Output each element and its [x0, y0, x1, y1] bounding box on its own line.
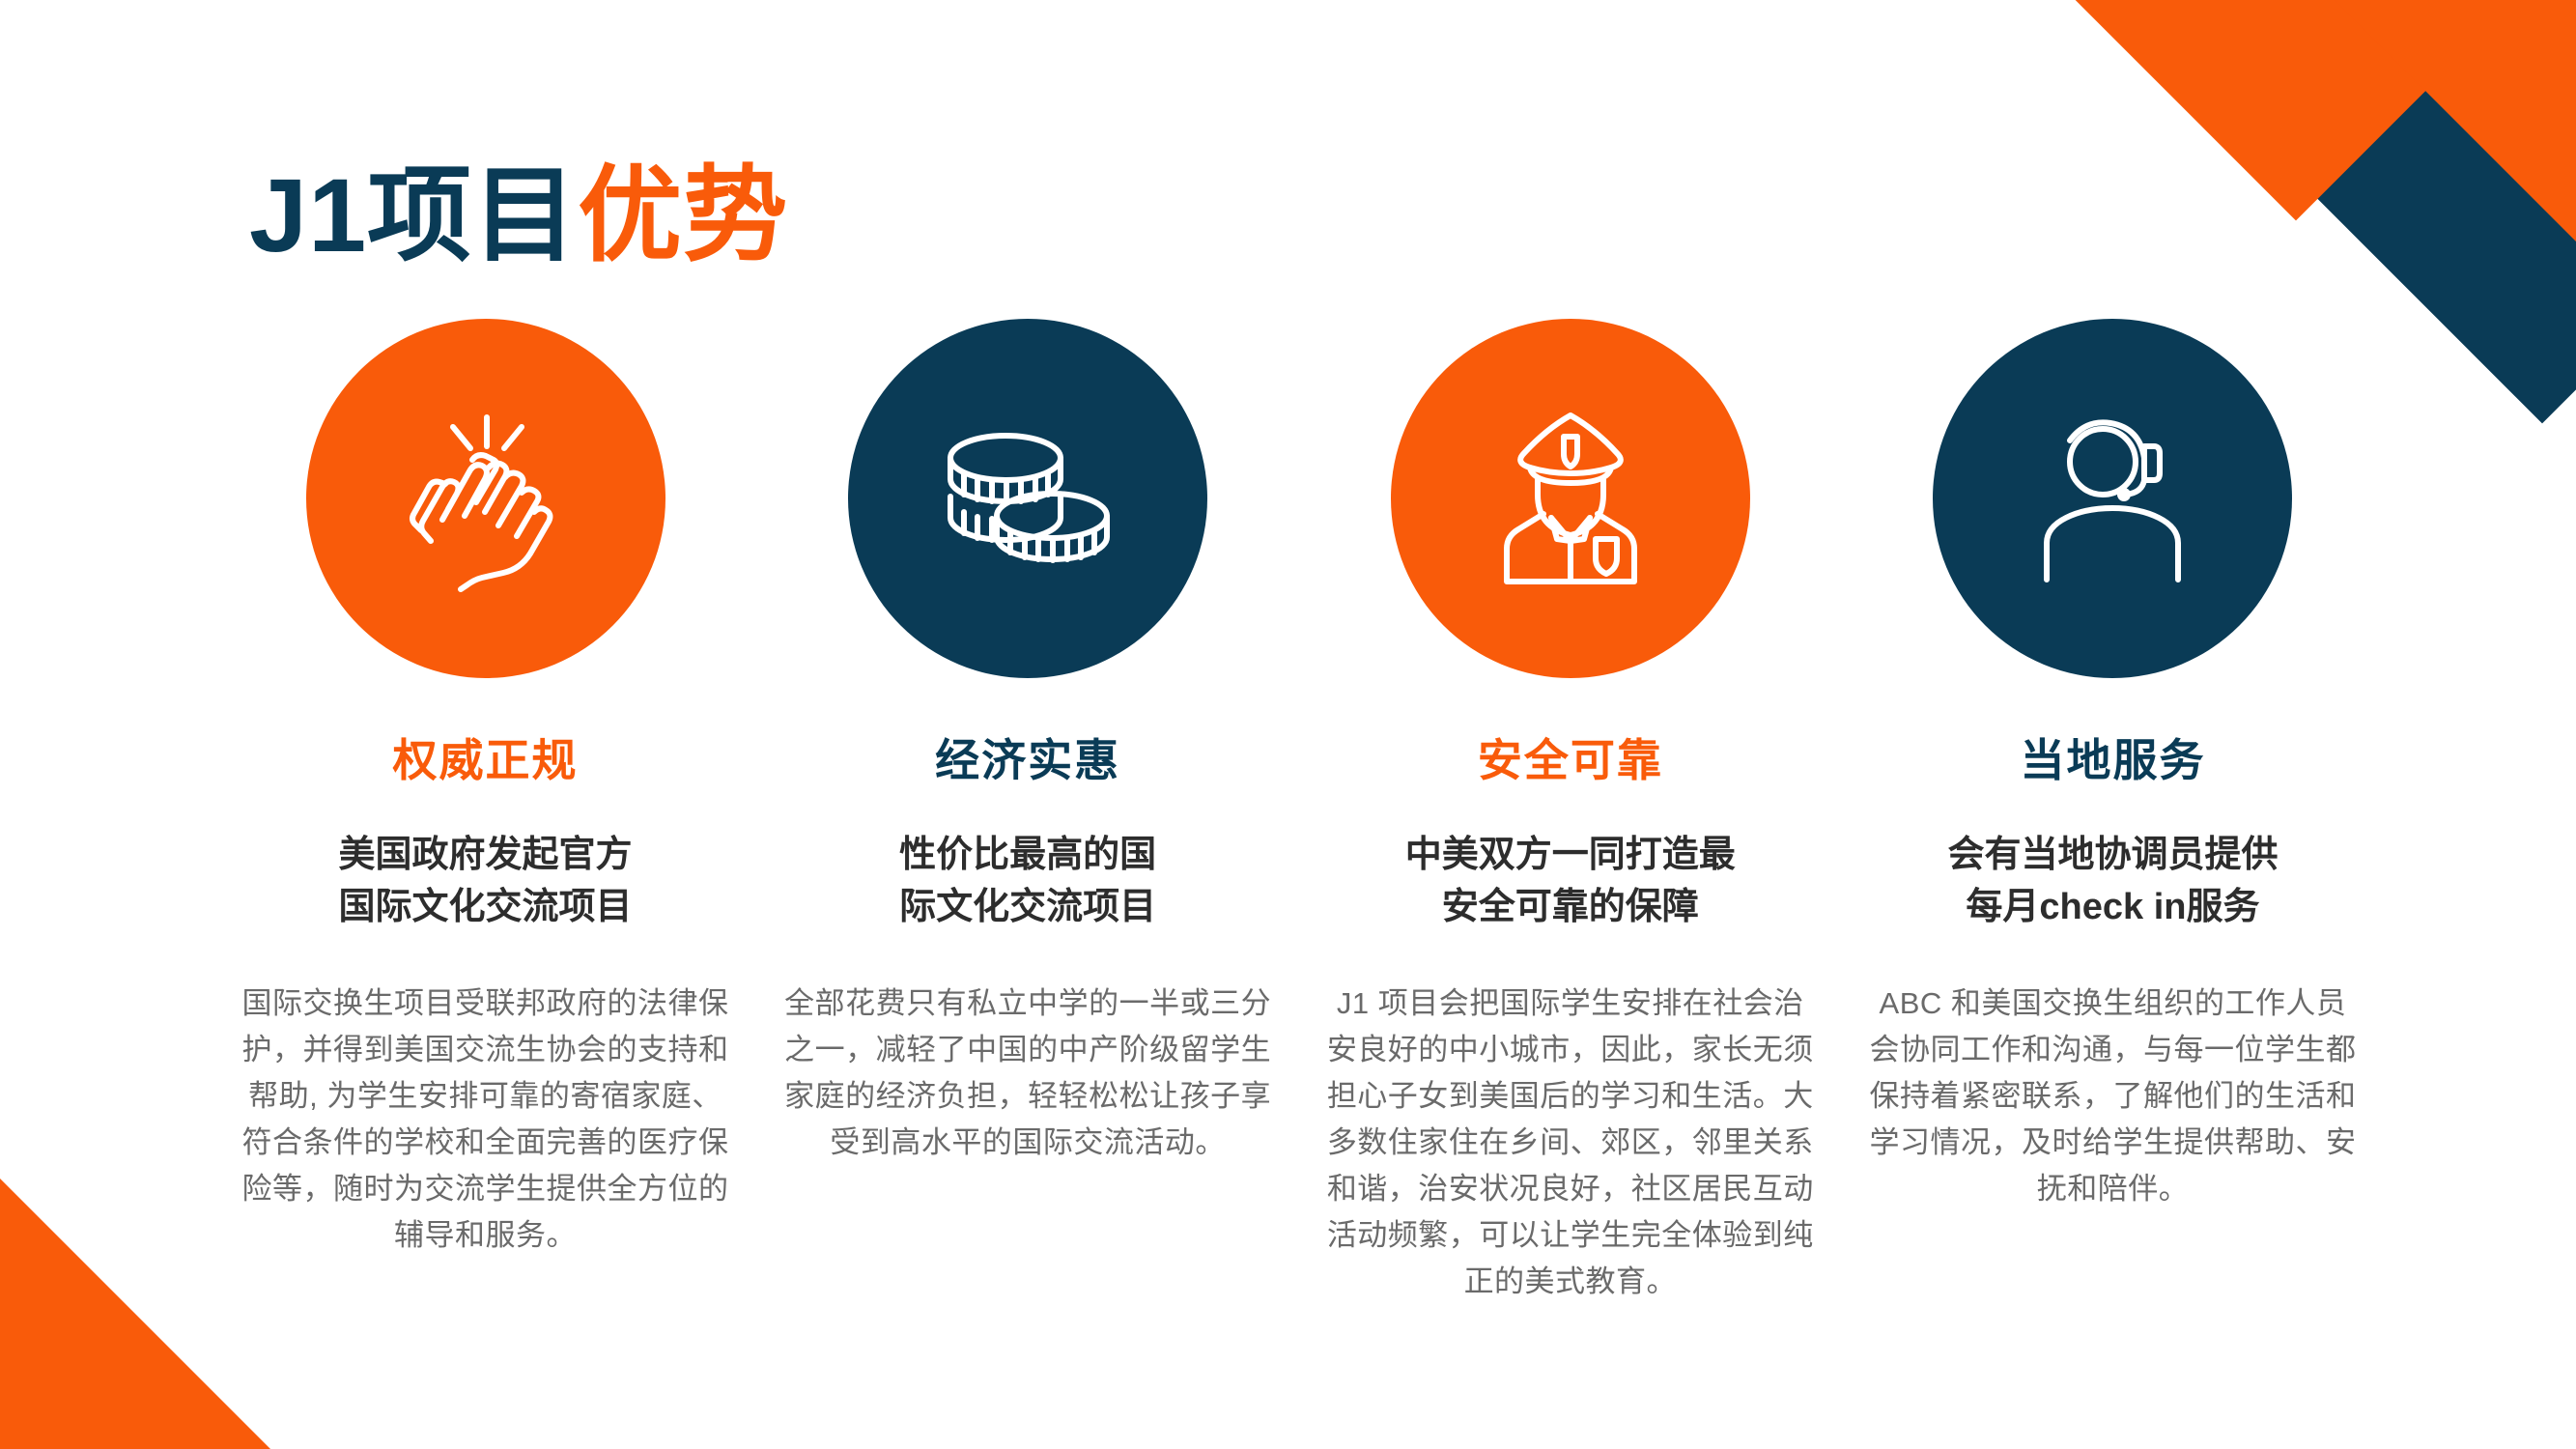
feature-column-4: 当地服务 会有当地协调员提供 每月check in服务 ABC 和美国交换生组织… — [1850, 319, 2376, 1212]
coins-stack-icon-circle — [848, 319, 1207, 678]
page-title: J1项目优势 — [249, 158, 788, 273]
feature-heading-3: 安全可靠 — [1478, 734, 1663, 787]
police-officer-icon-circle — [1391, 319, 1750, 678]
feature-heading-1: 权威正规 — [393, 734, 579, 787]
feature-column-1: 权威正规 美国政府发起官方 国际文化交流项目 国际交换生项目受联邦政府的法律保护… — [222, 319, 749, 1259]
feature-subtitle-3: 中美双方一同打造最 安全可靠的保障 — [1405, 830, 1736, 934]
feature-body-1: 国际交换生项目受联邦政府的法律保护，并得到美国交流生协会的支持和帮助, 为学生安… — [237, 980, 734, 1259]
feature-column-2: 经济实惠 性价比最高的国 际文化交流项目 全部花费只有私立中学的一半或三分之一，… — [765, 319, 1291, 1166]
feature-columns: 权威正规 美国政府发起官方 国际文化交流项目 国际交换生项目受联邦政府的法律保护… — [222, 319, 2376, 1305]
clapping-hands-icon-circle — [306, 319, 665, 678]
police-officer-icon — [1474, 402, 1667, 595]
top-right-orange-triangle — [2335, 0, 2576, 241]
feature-subtitle-4: 会有当地协调员提供 每月check in服务 — [1947, 830, 2278, 934]
feature-heading-4: 当地服务 — [2020, 734, 2205, 787]
headset-support-icon-circle — [1933, 319, 2292, 678]
feature-subtitle-2: 性价比最高的国 际文化交流项目 — [899, 830, 1156, 934]
feature-column-3: 安全可靠 中美双方一同打造最 安全可靠的保障 J1 项目会把国际学生安排在社会治… — [1307, 319, 1833, 1305]
feature-body-3: J1 项目会把国际学生安排在社会治安良好的中小城市，因此，家长无须担心子女到美国… — [1321, 980, 1819, 1305]
clapping-hands-icon — [389, 402, 582, 595]
coins-stack-icon — [931, 402, 1124, 595]
headset-support-icon — [2016, 402, 2209, 595]
feature-heading-2: 经济实惠 — [935, 734, 1120, 787]
page-title-accent: 优势 — [578, 156, 788, 273]
feature-body-2: 全部花费只有私立中学的一半或三分之一，减轻了中国的中产阶级留学生家庭的经济负担，… — [779, 980, 1277, 1166]
feature-body-4: ABC 和美国交换生组织的工作人员会协同工作和沟通，与每一位学生都保持着紧密联系… — [1864, 980, 2362, 1212]
page-title-primary: J1项目 — [249, 156, 578, 273]
feature-subtitle-1: 美国政府发起官方 国际文化交流项目 — [338, 830, 632, 934]
